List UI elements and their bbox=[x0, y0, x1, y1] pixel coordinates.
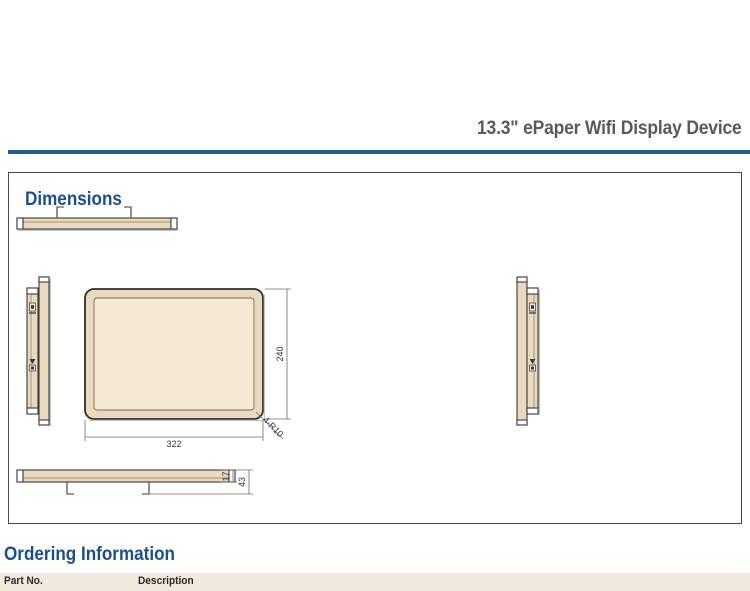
column-header-description: Description bbox=[138, 575, 194, 587]
ordering-heading: Ordering Information bbox=[4, 544, 175, 566]
dimensions-panel: Dimensions bbox=[8, 172, 742, 524]
callout-corner-radius: 4-R10 bbox=[256, 412, 285, 439]
page-header: 13.3" ePaper Wifi Display Device bbox=[0, 0, 750, 160]
front-view bbox=[85, 289, 264, 420]
page-title: 13.3" ePaper Wifi Display Device bbox=[477, 118, 742, 140]
bottom-view bbox=[17, 470, 235, 494]
dimension-label-43: 43 bbox=[237, 477, 247, 487]
dimension-label-17: 17 bbox=[221, 471, 231, 481]
ordering-table-header: Part No. Description bbox=[0, 573, 750, 591]
right-side-view bbox=[517, 277, 539, 425]
column-header-part-no: Part No. bbox=[4, 575, 43, 587]
dimensions-drawing: 240 322 4-R10 bbox=[9, 173, 743, 525]
dimension-label-322: 322 bbox=[166, 439, 181, 449]
dimension-height-240: 240 bbox=[265, 289, 291, 419]
dimension-label-4r10: 4-R10 bbox=[261, 415, 285, 439]
header-divider bbox=[8, 150, 750, 154]
dimension-label-240: 240 bbox=[275, 346, 285, 361]
dimension-width-322: 322 bbox=[85, 420, 263, 449]
left-side-view bbox=[27, 277, 50, 426]
top-view bbox=[17, 207, 178, 230]
